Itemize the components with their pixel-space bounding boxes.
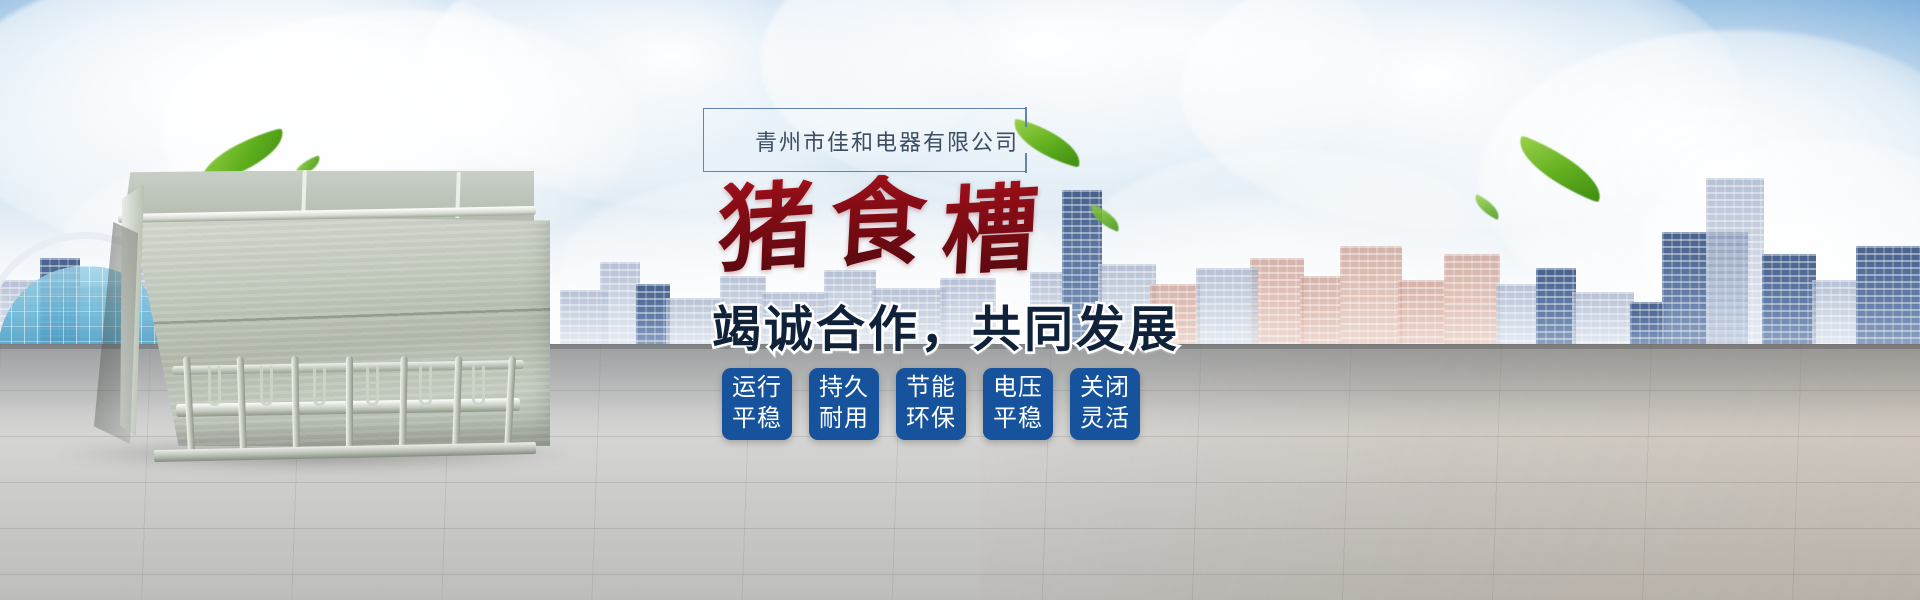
- badge-line-2: 平稳: [993, 404, 1043, 435]
- title-char: 猪: [716, 176, 816, 278]
- product-photo-pig-feeding-trough: [80, 168, 550, 458]
- company-name: 青州市佳和电器有限公司: [752, 125, 1022, 157]
- feature-badge-list: 运行 平稳 持久 耐用 节能 环保 电压 平稳 关闭 灵活: [722, 368, 1140, 440]
- feature-badge[interactable]: 持久 耐用: [809, 368, 879, 440]
- title-char: 食: [828, 173, 929, 272]
- badge-line-2: 耐用: [819, 404, 869, 435]
- badge-line-1: 电压: [993, 373, 1043, 404]
- badge-line-2: 环保: [906, 404, 956, 435]
- main-title: 猪 食 槽: [718, 170, 1038, 285]
- feature-badge[interactable]: 电压 平稳: [983, 368, 1053, 440]
- badge-line-1: 关闭: [1080, 373, 1130, 404]
- badge-line-1: 持久: [819, 373, 869, 404]
- feature-badge[interactable]: 关闭 灵活: [1070, 368, 1140, 440]
- badge-line-2: 灵活: [1080, 404, 1130, 435]
- subtitle-slogan: 竭诚合作，共同发展: [712, 290, 1180, 361]
- feature-badge[interactable]: 运行 平稳: [722, 368, 792, 440]
- badge-line-1: 节能: [906, 373, 956, 404]
- title-char: 槽: [939, 179, 1040, 280]
- badge-line-2: 平稳: [732, 404, 782, 435]
- promo-banner: 青州市佳和电器有限公司 猪 食 槽 竭诚合作，共同发展 运行 平稳 持久 耐用 …: [0, 0, 1920, 600]
- badge-line-1: 运行: [732, 373, 782, 404]
- feature-badge[interactable]: 节能 环保: [896, 368, 966, 440]
